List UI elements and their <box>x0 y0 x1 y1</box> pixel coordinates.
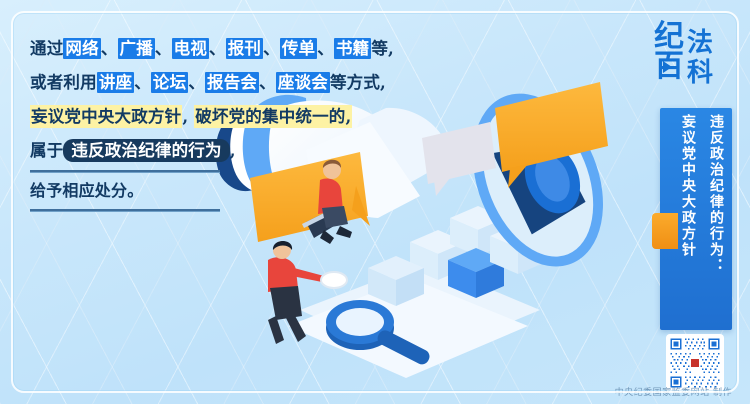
tag-baokan: 报刊 <box>226 38 263 59</box>
sep: 、 <box>317 39 334 58</box>
logo-char-ke: 科 <box>687 60 712 86</box>
line4-suffix: , <box>230 141 236 160</box>
tag-jiangzuo: 讲座 <box>97 72 134 93</box>
line2-prefix: 或者利用 <box>30 73 97 92</box>
text-line-3: 妄议党中央大政方针, 破坏党的集中统一的, <box>30 100 410 134</box>
text-line-5: 给予相应处分。 <box>30 174 410 208</box>
sep: 、 <box>188 73 205 92</box>
line4-prefix: 属于 <box>30 141 63 160</box>
divider-top <box>30 170 220 173</box>
conclusion-pill: 违反政治纪律的行为 <box>63 139 229 162</box>
logo-char-bai-wrap: 百 <box>654 52 683 82</box>
divider-bottom <box>30 209 220 212</box>
text-line-1: 通过网络、广播、电视、报刊、传单、书籍等, <box>30 32 410 66</box>
tag-shuji: 书籍 <box>334 38 371 59</box>
brand-logo[interactable]: 纪 法 百 科 <box>654 22 742 100</box>
poster-canvas: 通过网络、广播、电视、报刊、传单、书籍等, 或者利用讲座、论坛、报告会、座谈会等… <box>0 0 750 404</box>
play-triangle-icon <box>663 61 672 73</box>
logo-row-bottom: 百 科 <box>654 52 742 86</box>
tag-zuotanhui: 座谈会 <box>276 72 330 93</box>
logo-char-ji: 纪 <box>654 22 683 52</box>
right-rail: 纪 法 百 科 违反政治纪律的行为： 妄议党中央大政方针 <box>640 0 750 404</box>
vertical-title-right: 违反政治纪律的行为： <box>706 114 726 324</box>
sep: 、 <box>155 39 172 58</box>
text-line-4: 属于违反政治纪律的行为, <box>30 134 410 168</box>
sep: 、 <box>134 73 151 92</box>
main-text-block: 通过网络、广播、电视、报刊、传单、书籍等, 或者利用讲座、论坛、报告会、座谈会等… <box>30 32 410 212</box>
line2-suffix: 等方式, <box>330 73 386 92</box>
sep: 、 <box>209 39 226 58</box>
line1-suffix: 等, <box>371 39 394 58</box>
tag-baogaohui: 报告会 <box>205 72 259 93</box>
sep: 、 <box>101 39 118 58</box>
sep: 、 <box>259 73 276 92</box>
tag-dianshi: 电视 <box>172 38 209 59</box>
line3-mid: , <box>182 107 194 126</box>
logo-char-fa: 法 <box>687 30 712 56</box>
highlight-pohuai: 破坏党的集中统一的, <box>194 105 352 128</box>
text-line-2: 或者利用讲座、论坛、报告会、座谈会等方式, <box>30 66 410 100</box>
tag-chuandan: 传单 <box>280 38 317 59</box>
tag-wangluo: 网络 <box>63 38 100 59</box>
sep: 、 <box>263 39 280 58</box>
vertical-title-left: 妄议党中央大政方针 <box>678 114 698 324</box>
line1-prefix: 通过 <box>30 39 63 58</box>
vertical-title-panel: 违反政治纪律的行为： 妄议党中央大政方针 <box>660 108 732 330</box>
qr-code[interactable] <box>666 334 724 392</box>
tag-luntan: 论坛 <box>151 72 188 93</box>
tag-guangbo: 广播 <box>118 38 155 59</box>
highlight-wangyi: 妄议党中央大政方针 <box>30 105 182 128</box>
footer-credit: 中央纪委国家监委网站 制作 <box>615 385 732 398</box>
orange-tab-accent <box>652 213 678 249</box>
